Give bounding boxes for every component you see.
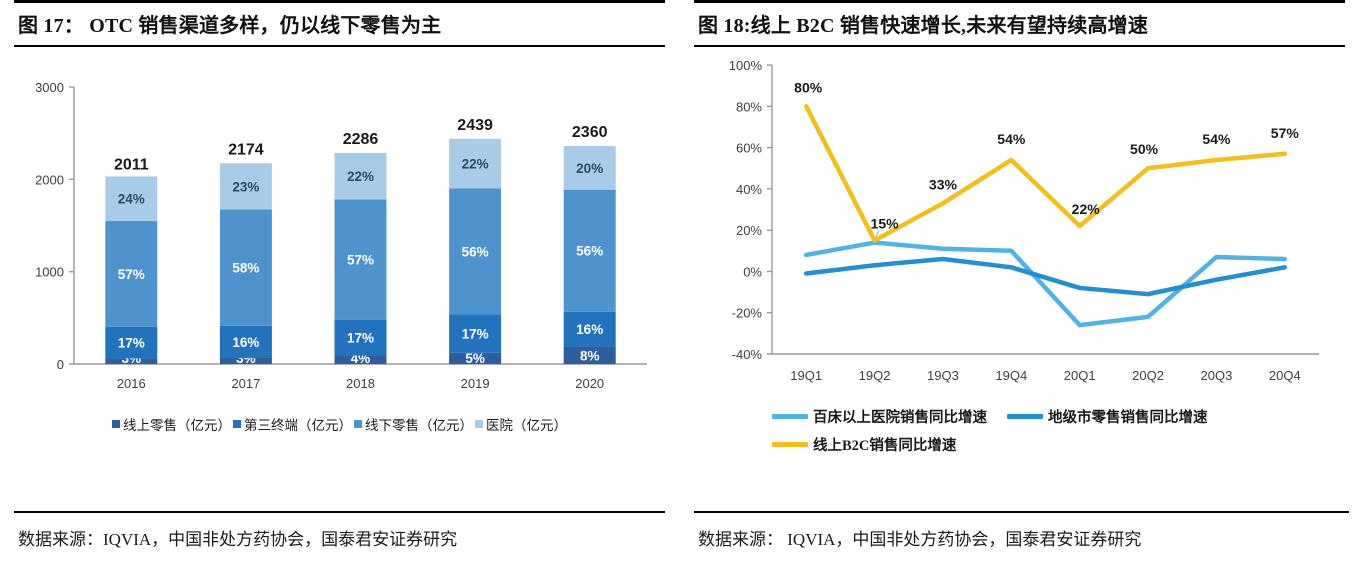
- line-x-tick-label: 19Q4: [995, 368, 1027, 383]
- legend-label-offline-retail: 线下零售（亿元）: [365, 414, 473, 434]
- line-y-tick-label: 0%: [743, 264, 762, 279]
- legend-label-b2c-growth: 线上B2C销售同比增速: [813, 434, 956, 455]
- bar-segment-label: 23%: [232, 179, 259, 194]
- line-y-tick-label: 100%: [729, 58, 763, 73]
- line-x-tick-label: 20Q3: [1201, 368, 1233, 383]
- line-x-tick-label: 20Q4: [1269, 368, 1301, 383]
- bar-segment-label: 56%: [462, 244, 489, 259]
- figure-17-chart-area: 01000200030003%17%57%24%201120163%16%58%…: [14, 47, 665, 457]
- bar-segment-label: 8%: [580, 348, 600, 363]
- line-y-tick-label: 60%: [736, 141, 762, 156]
- bar-total-label: 2174: [228, 141, 264, 158]
- figure-17-panel: 图 17： OTC 销售渠道多样，仍以线下零售为主 01000200030003…: [14, 0, 665, 575]
- line-point-label: 54%: [997, 131, 1026, 147]
- legend-swatch-hospital: [475, 420, 483, 428]
- line-chart-legend: 百床以上医院销售同比增速 地级市零售销售同比增速 线上B2C销售同比增速: [694, 406, 1345, 455]
- bar-chart-legend: 线上零售（亿元） 第三终端（亿元） 线下零售（亿元） 医院（亿元）: [14, 414, 665, 434]
- bar-segment-label: 22%: [347, 169, 374, 184]
- figure-17-title-block: 图 17： OTC 销售渠道多样，仍以线下零售为主: [14, 0, 665, 47]
- bar-segment-label: 57%: [118, 267, 145, 282]
- legend-label-hospital: 医院（亿元）: [486, 414, 567, 434]
- figure-17-title: 图 17： OTC 销售渠道多样，仍以线下零售为主: [14, 3, 665, 45]
- legend-item-b2c-growth[interactable]: 线上B2C销售同比增速: [772, 434, 956, 455]
- bar-category-label: 2020: [575, 376, 604, 391]
- bar-segment-label: 57%: [347, 253, 374, 268]
- bar-segment-label: 5%: [465, 351, 485, 366]
- bar-segment-label: 17%: [462, 327, 489, 342]
- line-point-label: 22%: [1072, 201, 1101, 217]
- legend-item-city-retail-growth[interactable]: 地级市零售销售同比增速: [1007, 406, 1208, 427]
- bar-category-label: 2017: [231, 376, 260, 391]
- line-x-tick-label: 20Q1: [1064, 368, 1096, 383]
- bar-segment-label: 16%: [576, 322, 603, 337]
- stacked-bar-chart: 01000200030003%17%57%24%201120163%16%58%…: [14, 47, 665, 412]
- bar-segment-label: 56%: [576, 244, 603, 259]
- bar-y-tick-label: 2000: [35, 172, 64, 187]
- legend-line-b2c-growth: [772, 442, 808, 447]
- legend-line-hospital-growth: [772, 414, 808, 419]
- bar-category-label: 2016: [117, 376, 146, 391]
- figure-17-source: 数据来源：IQVIA，中国非处方药协会，国泰君安证券研究: [14, 513, 665, 550]
- bar-total-label: 2286: [343, 131, 379, 148]
- line-point-label: 15%: [871, 215, 900, 231]
- bar-segment-label: 22%: [462, 157, 489, 172]
- line-series[interactable]: [806, 243, 1285, 326]
- legend-item-online-retail[interactable]: 线上零售（亿元）: [112, 414, 231, 434]
- line-y-tick-label: 20%: [736, 223, 762, 238]
- line-legend-row-1: 百床以上医院销售同比增速 地级市零售销售同比增速: [772, 406, 1345, 427]
- legend-label-hospital-growth: 百床以上医院销售同比增速: [813, 406, 987, 427]
- legend-line-city-retail-growth: [1007, 414, 1043, 419]
- line-x-tick-label: 19Q3: [927, 368, 959, 383]
- bar-y-tick-label: 0: [57, 357, 64, 372]
- line-y-tick-label: -20%: [732, 306, 763, 321]
- line-point-label: 50%: [1130, 141, 1159, 157]
- legend-swatch-online-retail: [112, 420, 120, 428]
- figure-18-panel: 图 18:线上 B2C 销售快速增长,未来有望持续高增速 -40%-20%0%2…: [694, 0, 1345, 575]
- figure-17-footer-block: 数据来源：IQVIA，中国非处方药协会，国泰君安证券研究: [14, 505, 665, 550]
- figure-18-source: 数据来源： IQVIA，中国非处方药协会，国泰君安证券研究: [694, 513, 1349, 550]
- line-point-label: 80%: [794, 79, 823, 95]
- bar-total-label: 2360: [572, 124, 608, 141]
- figure-18-title: 图 18:线上 B2C 销售快速增长,未来有望持续高增速: [694, 3, 1345, 45]
- line-y-tick-label: 80%: [736, 99, 762, 114]
- legend-item-hospital-growth[interactable]: 百床以上医院销售同比增速: [772, 406, 987, 427]
- line-point-label: 33%: [929, 176, 958, 192]
- legend-label-third-terminal: 第三终端（亿元）: [244, 414, 352, 434]
- figure-18-title-block: 图 18:线上 B2C 销售快速增长,未来有望持续高增速: [694, 0, 1345, 47]
- report-figures-page: 图 17： OTC 销售渠道多样，仍以线下零售为主 01000200030003…: [0, 0, 1362, 575]
- line-y-tick-label: -40%: [732, 347, 763, 362]
- bar-y-tick-label: 3000: [35, 80, 64, 95]
- legend-swatch-offline-retail: [354, 420, 362, 428]
- bar-segment-label: 16%: [232, 335, 259, 350]
- bar-category-label: 2018: [346, 376, 375, 391]
- line-x-tick-label: 19Q2: [859, 368, 891, 383]
- bar-total-label: 2011: [114, 156, 149, 173]
- legend-label-city-retail-growth: 地级市零售销售同比增速: [1048, 406, 1208, 427]
- bar-segment-label: 17%: [347, 331, 374, 346]
- figure-18-chart-area: -40%-20%0%20%40%60%80%100%19Q119Q219Q319…: [694, 47, 1345, 457]
- line-point-label: 54%: [1202, 131, 1231, 147]
- bar-segment-label: 24%: [118, 192, 145, 207]
- line-y-tick-label: 40%: [736, 182, 762, 197]
- line-chart: -40%-20%0%20%40%60%80%100%19Q119Q219Q319…: [694, 47, 1345, 402]
- bar-category-label: 2019: [461, 376, 490, 391]
- bar-segment-label: 58%: [232, 261, 259, 276]
- figure-18-footer-block: 数据来源： IQVIA，中国非处方药协会，国泰君安证券研究: [694, 505, 1349, 550]
- legend-item-hospital[interactable]: 医院（亿元）: [475, 414, 567, 434]
- bar-total-label: 2439: [457, 117, 493, 134]
- legend-item-offline-retail[interactable]: 线下零售（亿元）: [354, 414, 473, 434]
- line-point-label: 57%: [1271, 125, 1300, 141]
- line-x-tick-label: 20Q2: [1132, 368, 1164, 383]
- line-x-tick-label: 19Q1: [790, 368, 822, 383]
- line-legend-row-2: 线上B2C销售同比增速: [772, 434, 1345, 455]
- legend-swatch-third-terminal: [233, 420, 241, 428]
- bar-segment-label: 20%: [576, 161, 603, 176]
- legend-item-third-terminal[interactable]: 第三终端（亿元）: [233, 414, 352, 434]
- bar-y-tick-label: 1000: [35, 265, 64, 280]
- bar-segment-label: 17%: [118, 336, 145, 351]
- legend-label-online-retail: 线上零售（亿元）: [123, 414, 231, 434]
